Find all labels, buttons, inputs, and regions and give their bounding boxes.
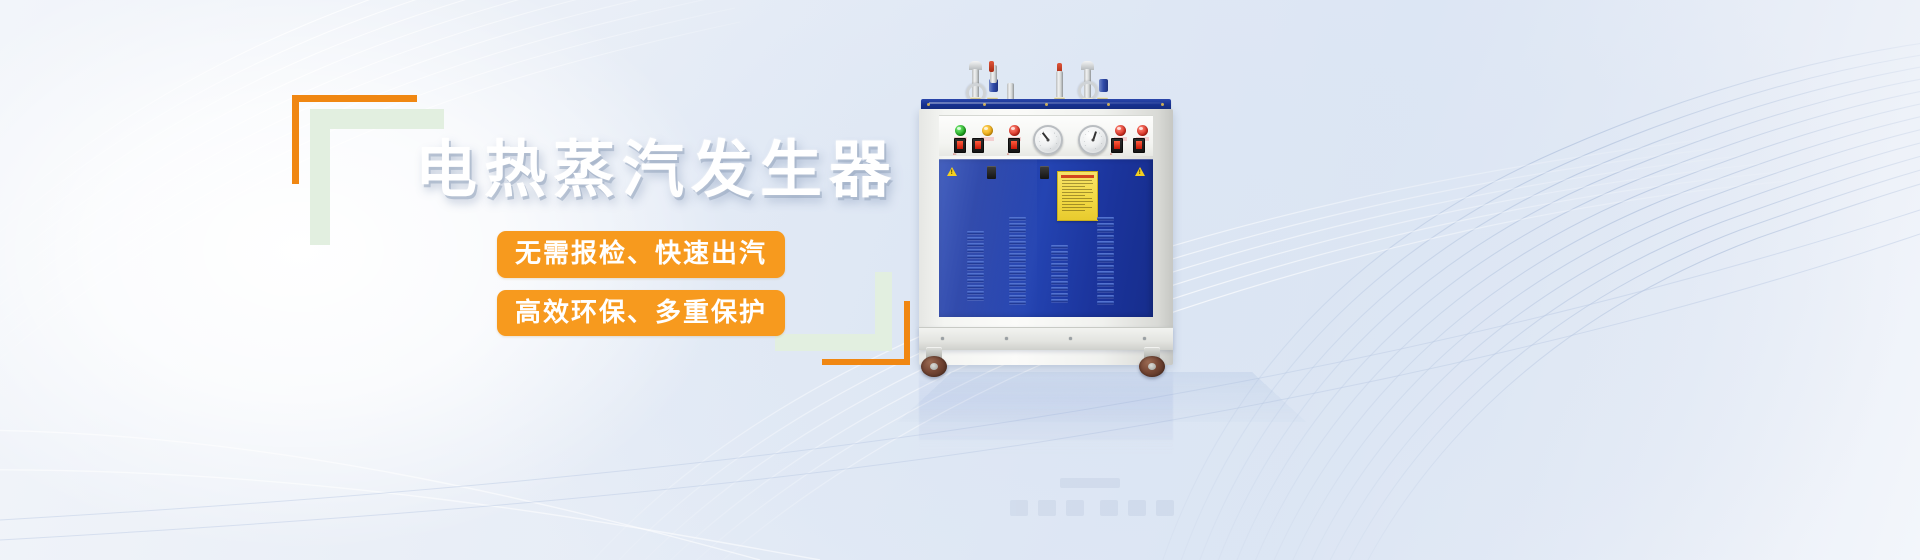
- blue-valve-body: [1099, 79, 1108, 92]
- vent-column-4: [1097, 217, 1114, 304]
- door-latch: [987, 166, 996, 179]
- label-text-line: [1062, 195, 1085, 196]
- vent-column-3: [1051, 245, 1068, 302]
- base-screw: [1143, 337, 1146, 340]
- cabinet-front-door: [939, 159, 1153, 317]
- feature-badge-1: 无需报检、快速出汽: [497, 231, 785, 278]
- warning-triangle-icon: [947, 167, 957, 176]
- indicator-lamp-red: [1009, 125, 1020, 136]
- copy-block: 电热蒸汽发生器 无需报检、快速出汽 高效环保、多重保护: [0, 0, 900, 560]
- cap-screw: [927, 103, 930, 106]
- switch-caption: ▪▪: [1007, 152, 1009, 156]
- warning-triangle-icon: [1135, 167, 1145, 176]
- rocker-switch-3: [1008, 138, 1020, 153]
- label-text-line: [1062, 189, 1092, 190]
- label-text-line: [1062, 186, 1085, 187]
- label-text-line: [1062, 183, 1093, 184]
- product-image-steam-generator: ▪▪▪ ▪▪ ▪▪: [905, 55, 1195, 375]
- caster-wheel-right: [1139, 347, 1165, 377]
- label-title-bar: [1061, 175, 1094, 178]
- label-text-line: [1062, 204, 1085, 205]
- red-handle-icon: [989, 61, 994, 72]
- vent-column-1: [967, 231, 984, 300]
- label-text-line: [1062, 180, 1092, 181]
- rocker-switch-1: [954, 138, 966, 153]
- machine-reflection: [905, 370, 1195, 458]
- base-screw: [1005, 337, 1008, 340]
- base-screw: [1069, 337, 1072, 340]
- cap-screw: [983, 103, 986, 106]
- label-text-line: [1062, 192, 1093, 193]
- switch-caption: ▪▪: [1110, 152, 1112, 156]
- gauge-hub: [1092, 139, 1095, 142]
- gauge-hub: [1047, 139, 1050, 142]
- banner-stage: 电热蒸汽发生器 无需报检、快速出汽 高效环保、多重保护: [0, 0, 1920, 560]
- caster-wheel: [1139, 356, 1165, 377]
- rocker-switch-5: [1133, 138, 1145, 153]
- cap-screw: [1045, 103, 1048, 106]
- switch-caption: ▪▪▪: [953, 152, 956, 156]
- reflection-base: [919, 440, 1173, 454]
- pressure-gauge-left: [1033, 125, 1063, 155]
- label-text-line: [1062, 210, 1085, 211]
- indicator-lamp-amber: [982, 125, 993, 136]
- label-text-line: [1062, 201, 1093, 202]
- indicator-lamp-red: [1115, 125, 1126, 136]
- base-screw: [941, 337, 944, 340]
- vent-column-2: [1009, 217, 1026, 304]
- control-panel: ▪▪▪ ▪▪ ▪▪: [939, 115, 1153, 156]
- cap-screw: [1161, 103, 1164, 106]
- indicator-lamp-red: [1137, 125, 1148, 136]
- yellow-warning-label: [1057, 171, 1098, 221]
- caster-wheel: [921, 356, 947, 377]
- label-text-line: [1062, 198, 1092, 199]
- pressure-gauge-right: [1078, 125, 1108, 155]
- rocker-switch-2: [972, 138, 984, 153]
- caster-wheel-left: [921, 347, 947, 377]
- door-latch: [1040, 166, 1049, 179]
- feature-badge-list: 无需报检、快速出汽 高效环保、多重保护: [497, 231, 785, 348]
- cabinet-base-plinth: [919, 327, 1173, 350]
- top-pipework-assembly: [905, 55, 1195, 105]
- cap-screw: [1107, 103, 1110, 106]
- feature-badge-2: 高效环保、多重保护: [497, 290, 785, 337]
- label-text-line: [1062, 207, 1092, 208]
- rocker-switch-4: [1111, 138, 1123, 153]
- indicator-lamp-green: [955, 125, 966, 136]
- page-title: 电热蒸汽发生器: [415, 140, 898, 202]
- reflection-body: [919, 370, 1173, 440]
